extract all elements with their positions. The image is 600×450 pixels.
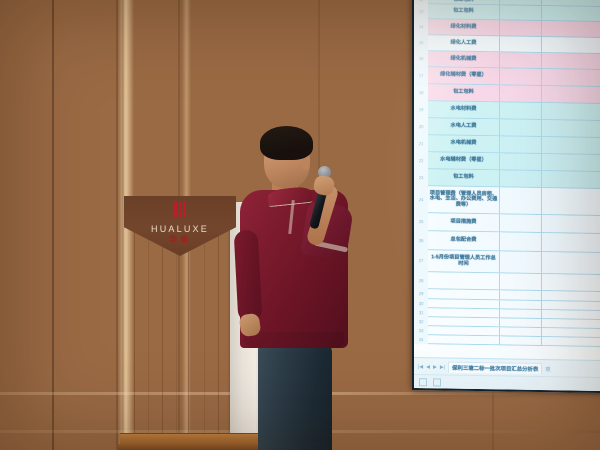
spreadsheet-view[interactable]: 1213141516171819202122232425262728293031… xyxy=(414,0,600,391)
row-label-cell[interactable]: 项目措施费 xyxy=(428,213,500,231)
row-number[interactable]: 25 xyxy=(414,219,428,224)
row-label-cell[interactable] xyxy=(428,326,500,335)
row-extra-cell[interactable] xyxy=(542,301,600,310)
row-number[interactable]: 22 xyxy=(414,158,428,163)
row-extra-cell[interactable] xyxy=(542,86,600,103)
row-extra-cell[interactable] xyxy=(542,233,600,252)
row-label-cell[interactable]: 水电人工费 xyxy=(428,118,500,135)
row-value-cell[interactable] xyxy=(500,300,542,309)
row-number[interactable]: 20 xyxy=(414,124,428,129)
row-value-cell[interactable] xyxy=(500,136,542,153)
row-value-cell[interactable] xyxy=(500,68,542,85)
presenter-trousers xyxy=(258,342,332,450)
presenter-ear xyxy=(301,158,310,170)
podium-wordmark: HUALUXE xyxy=(124,224,236,234)
row-value-cell[interactable] xyxy=(500,0,542,5)
row-number[interactable]: 18 xyxy=(414,90,428,95)
nav-prev-icon[interactable]: ◀ xyxy=(426,364,430,370)
row-number[interactable]: 13 xyxy=(414,9,428,14)
row-label-cell[interactable] xyxy=(428,308,500,317)
row-label-cell[interactable] xyxy=(428,289,500,299)
row-number[interactable]: 30 xyxy=(414,301,428,306)
row-header-gutter: 1213141516171819202122232425262728293031… xyxy=(414,0,428,388)
row-value-cell[interactable] xyxy=(500,232,542,251)
row-extra-cell[interactable] xyxy=(542,310,600,319)
row-value-cell[interactable] xyxy=(500,52,542,68)
row-label-cell[interactable]: 水电材料费 xyxy=(428,101,500,118)
row-extra-cell[interactable] xyxy=(542,120,600,137)
presentation-photo: 1213141516171819202122232425262728293031… xyxy=(0,0,600,450)
row-extra-cell[interactable] xyxy=(542,252,600,274)
view-layout-icon[interactable] xyxy=(433,378,441,386)
row-number[interactable]: 16 xyxy=(414,56,428,61)
wall-seam xyxy=(52,0,54,450)
row-extra-cell[interactable] xyxy=(542,21,600,37)
row-value-cell[interactable] xyxy=(500,5,542,20)
row-extra-cell[interactable] xyxy=(542,215,600,233)
row-label-cell[interactable]: 包工包料 xyxy=(428,169,500,186)
podium-logo: HUALUXE 华邑 xyxy=(124,202,236,245)
row-label-cell[interactable] xyxy=(428,299,500,308)
row-number[interactable]: 34 xyxy=(414,337,428,342)
row-label-cell[interactable]: 绿化人工费 xyxy=(428,35,500,51)
row-value-cell[interactable] xyxy=(500,85,542,102)
row-value-cell[interactable] xyxy=(500,36,542,52)
presenter xyxy=(238,126,368,450)
row-number[interactable]: 24 xyxy=(414,197,428,202)
nav-first-icon[interactable]: |◀ xyxy=(418,364,423,370)
row-value-cell[interactable] xyxy=(500,119,542,136)
table-row[interactable]: 项目管理费（管理人员房租、水电、生活、办公费用、交通费等） xyxy=(428,186,600,216)
row-label-cell[interactable]: 项目管理费（管理人员房租、水电、生活、办公费用、交通费等） xyxy=(428,186,500,213)
row-number[interactable]: 29 xyxy=(414,291,428,296)
row-number[interactable]: 33 xyxy=(414,328,428,333)
row-extra-cell[interactable] xyxy=(542,319,600,328)
row-value-cell[interactable] xyxy=(500,20,542,36)
row-number[interactable]: 28 xyxy=(414,278,428,283)
row-extra-cell[interactable] xyxy=(542,291,600,301)
row-value-cell[interactable] xyxy=(500,273,542,290)
row-extra-cell[interactable] xyxy=(542,328,600,337)
sheet-tab-next[interactable]: 项 xyxy=(545,365,550,373)
row-value-cell[interactable] xyxy=(500,153,542,170)
presenter-hair xyxy=(260,126,313,160)
view-normal-icon[interactable] xyxy=(419,378,427,386)
presenter-left-arm xyxy=(234,229,263,322)
row-label-cell[interactable] xyxy=(428,335,500,344)
row-number[interactable]: 17 xyxy=(414,73,428,78)
row-label-cell[interactable] xyxy=(428,272,500,289)
row-number[interactable]: 15 xyxy=(414,40,428,45)
row-extra-cell[interactable] xyxy=(542,274,600,291)
row-number[interactable]: 26 xyxy=(414,238,428,243)
status-bar xyxy=(414,374,600,391)
row-number[interactable]: 14 xyxy=(414,24,428,29)
row-extra-cell[interactable] xyxy=(542,337,600,346)
hualuxe-emblem-icon xyxy=(174,202,186,217)
row-number[interactable]: 31 xyxy=(414,310,428,315)
row-extra-cell[interactable] xyxy=(542,69,600,86)
nav-last-icon[interactable]: ▶| xyxy=(440,364,445,370)
row-extra-cell[interactable] xyxy=(542,6,600,21)
projection-screen: 1213141516171819202122232425262728293031… xyxy=(412,0,600,393)
row-number[interactable]: 21 xyxy=(414,141,428,146)
row-label-cell[interactable]: 包工包料 xyxy=(428,4,500,19)
row-number[interactable]: 32 xyxy=(414,319,428,324)
row-label-cell[interactable]: 水电机械费 xyxy=(428,135,500,152)
row-value-cell[interactable] xyxy=(500,327,542,336)
presenter-shirt-hem xyxy=(244,332,344,348)
row-extra-cell[interactable] xyxy=(542,188,600,215)
row-extra-cell[interactable] xyxy=(542,0,600,6)
table-row[interactable]: 1-5月份项目管理人员工作总时间 xyxy=(428,250,600,275)
row-extra-cell[interactable] xyxy=(542,103,600,120)
nav-next-icon[interactable]: ▶ xyxy=(433,364,437,370)
row-value-cell[interactable] xyxy=(500,309,542,318)
row-number[interactable]: 23 xyxy=(414,175,428,180)
row-extra-cell[interactable] xyxy=(542,37,600,53)
row-label-cell[interactable]: 绿化机械费 xyxy=(428,51,500,67)
row-extra-cell[interactable] xyxy=(542,53,600,69)
row-value-cell[interactable] xyxy=(500,187,542,214)
podium-wood-body xyxy=(124,226,236,440)
sheet-tab-active[interactable]: 保利三塘二标一批次项目汇总分析表 xyxy=(448,362,542,374)
row-number[interactable]: 19 xyxy=(414,107,428,112)
row-value-cell[interactable] xyxy=(500,214,542,232)
spreadsheet-rows: 包工包料包工包料绿化材料费绿化人工费绿化机械费绿化辅材费（零星）包工包料水电材料… xyxy=(428,0,600,347)
row-label-cell[interactable]: 包工包料 xyxy=(428,84,500,101)
row-label-cell[interactable]: 水电辅材费（零星） xyxy=(428,152,500,169)
row-label-cell[interactable]: 1-5月份项目管理人员工作总时间 xyxy=(428,250,500,272)
row-number[interactable]: 12 xyxy=(414,0,428,2)
row-label-cell[interactable] xyxy=(428,317,500,326)
row-value-cell[interactable] xyxy=(500,290,542,300)
row-extra-cell[interactable] xyxy=(542,154,600,171)
row-label-cell[interactable]: 总包配合费 xyxy=(428,231,500,250)
row-label-cell[interactable]: 绿化辅材费（零星） xyxy=(428,67,500,84)
row-value-cell[interactable] xyxy=(500,102,542,119)
row-extra-cell[interactable] xyxy=(542,171,600,188)
row-value-cell[interactable] xyxy=(500,336,542,345)
row-value-cell[interactable] xyxy=(500,170,542,187)
row-value-cell[interactable] xyxy=(500,318,542,327)
row-number[interactable]: 27 xyxy=(414,258,428,263)
row-value-cell[interactable] xyxy=(500,251,542,273)
row-extra-cell[interactable] xyxy=(542,137,600,154)
row-label-cell[interactable]: 绿化材料费 xyxy=(428,19,500,35)
podium-wordmark-cn: 华邑 xyxy=(124,234,236,245)
